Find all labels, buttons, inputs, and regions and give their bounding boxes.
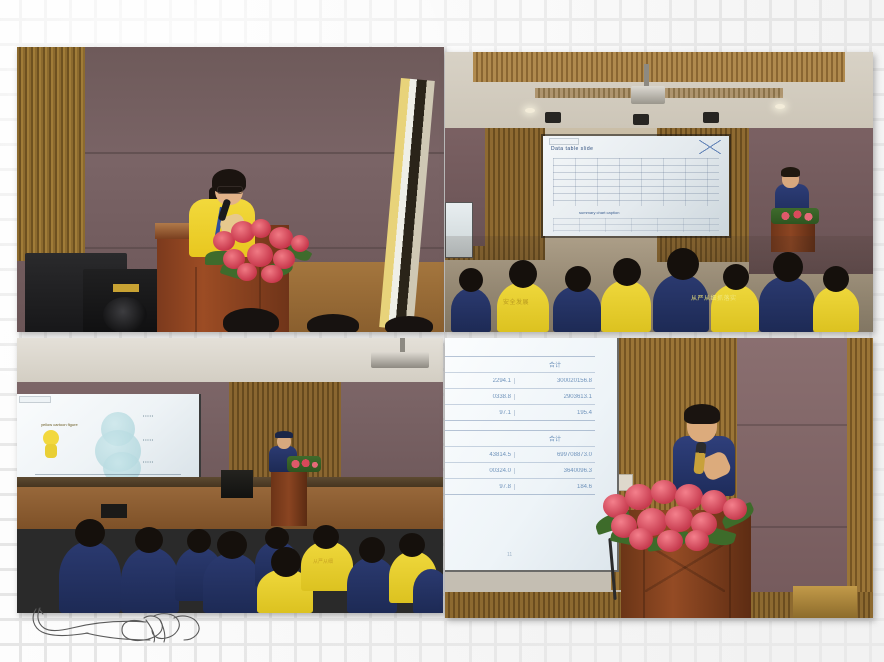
audience-member bbox=[813, 286, 859, 332]
flower-arrangement bbox=[595, 480, 755, 548]
audience-member bbox=[497, 282, 549, 332]
flower-arrangement bbox=[203, 217, 313, 287]
podium-flowers bbox=[287, 456, 321, 472]
company-logo-icon bbox=[699, 140, 721, 154]
ceiling-downlight bbox=[775, 104, 785, 109]
hall-speaker-hair bbox=[781, 167, 800, 177]
audience-head bbox=[271, 547, 301, 577]
table-row: 2294.1 300020156.8 bbox=[445, 373, 595, 389]
audience-member bbox=[759, 276, 815, 332]
audience-head bbox=[723, 264, 749, 290]
stone-seam bbox=[737, 424, 849, 426]
slide-data-table-secondary bbox=[553, 218, 719, 232]
table-cell: 合计 bbox=[515, 434, 595, 443]
audience-head bbox=[385, 316, 433, 332]
audience-head bbox=[613, 258, 641, 286]
projector bbox=[371, 352, 429, 368]
wall-seam bbox=[69, 152, 444, 154]
ceiling-speaker bbox=[633, 114, 649, 125]
audience-head bbox=[187, 529, 211, 553]
ceiling-downlight bbox=[525, 108, 535, 113]
table-cell: 97.1 bbox=[445, 410, 515, 416]
audience-head bbox=[773, 252, 803, 282]
audience-head bbox=[399, 533, 425, 557]
table-row: 97.8 184.6 bbox=[445, 479, 595, 494]
projector-mount bbox=[644, 64, 649, 88]
audience-head bbox=[217, 531, 247, 559]
table-cell: 3640096.3 bbox=[515, 468, 595, 474]
podium-panel-detail bbox=[645, 544, 725, 592]
projector bbox=[631, 86, 665, 104]
slide-table-upper: 合计 2294.1 300020156.8 0338.8 2903613.1 9… bbox=[445, 356, 595, 421]
photo-hall-projection[interactable]: Data table slide summary chart caption bbox=[445, 52, 873, 332]
ceiling-speaker bbox=[545, 112, 561, 123]
audience-shirt-text-secondary: 安全发展 bbox=[503, 297, 529, 306]
audience-head bbox=[135, 527, 163, 553]
table-cell: 699708873.0 bbox=[515, 452, 595, 458]
loudspeaker-cone bbox=[103, 297, 147, 332]
audience-member bbox=[451, 288, 491, 332]
loudspeaker-label bbox=[113, 284, 139, 292]
table-row: 97.1 195.4 bbox=[445, 405, 595, 420]
audience-head bbox=[667, 248, 699, 280]
projection-screen: Data table slide summary chart caption bbox=[543, 136, 729, 236]
audience-head bbox=[265, 527, 289, 549]
wood-block bbox=[793, 586, 857, 618]
audience-head bbox=[359, 537, 385, 563]
table-row: 00324.0 3640096.3 bbox=[445, 463, 595, 479]
audience-head bbox=[459, 268, 483, 292]
audience-head bbox=[823, 266, 849, 292]
audience-shirt-text: 从严从细 bbox=[313, 558, 333, 565]
audience-member bbox=[59, 541, 121, 613]
wood-wall-right bbox=[847, 338, 873, 618]
photo-hall-wide[interactable]: yellow cartoon figure • • • • • • • • • … bbox=[17, 338, 443, 613]
collage-canvas: Data table slide summary chart caption bbox=[0, 0, 884, 662]
projection-screen: 合计 2294.1 300020156.8 0338.8 2903613.1 9… bbox=[445, 338, 619, 572]
audience-area bbox=[17, 505, 443, 613]
audience-member bbox=[121, 547, 179, 613]
audience-member bbox=[711, 284, 759, 332]
slide-bullets: • • • • • bbox=[143, 460, 153, 465]
table-cell: 97.8 bbox=[445, 484, 515, 490]
audience-member bbox=[203, 553, 261, 613]
ceiling-speaker bbox=[703, 112, 719, 123]
table-cell: 2294.1 bbox=[445, 378, 515, 384]
table-cell: 300020156.8 bbox=[515, 378, 595, 384]
loudspeaker-stage bbox=[221, 470, 253, 498]
speaker-hair bbox=[684, 404, 720, 424]
slide-title: Data table slide bbox=[551, 146, 593, 152]
wood-slat-panel bbox=[17, 47, 85, 261]
slide-bullets: • • • • • bbox=[143, 438, 153, 443]
photo-speaker-female[interactable] bbox=[17, 47, 444, 332]
audience-head bbox=[223, 308, 279, 332]
slide-bullets: • • • • • bbox=[143, 414, 153, 419]
audience-member bbox=[553, 286, 601, 332]
audience-shirt-text: 从严从细抓落实 bbox=[691, 293, 737, 302]
audience-member bbox=[601, 280, 651, 332]
table-row: 合计 bbox=[445, 357, 595, 373]
table-cell: 43814.5 bbox=[445, 452, 515, 458]
slide-window-tab bbox=[19, 396, 51, 403]
slide-figure-label: yellow cartoon figure bbox=[41, 422, 78, 427]
table-cell: 合计 bbox=[515, 360, 595, 369]
slide-data-table bbox=[553, 158, 719, 206]
slide-window-tab bbox=[549, 138, 579, 145]
slide-page-number: 11 bbox=[507, 552, 512, 558]
audience-member bbox=[653, 274, 709, 332]
hand-drawn-scribble bbox=[26, 606, 226, 654]
photo-speaker-male[interactable]: 合计 2294.1 300020156.8 0338.8 2903613.1 9… bbox=[445, 338, 873, 618]
hall-podium-flowers bbox=[771, 208, 819, 224]
slide-table-lower: 合计 43814.5 699708873.0 00324.0 3640096.3… bbox=[445, 430, 595, 495]
audience-head bbox=[307, 314, 359, 332]
slide-caption: summary chart caption bbox=[579, 210, 619, 215]
table-row: 合计 bbox=[445, 431, 595, 447]
table-cell: 00324.0 bbox=[445, 468, 515, 474]
table-row: 0338.8 2903613.1 bbox=[445, 389, 595, 405]
slide-figure-body bbox=[45, 444, 57, 458]
audience-head bbox=[509, 260, 537, 288]
eyeglasses-icon bbox=[217, 186, 243, 194]
audience-head bbox=[75, 519, 105, 547]
table-cell: 0338.8 bbox=[445, 394, 515, 400]
ceiling-slats bbox=[473, 52, 845, 82]
audience-head bbox=[313, 525, 339, 549]
table-cell: 184.6 bbox=[515, 484, 595, 490]
table-row: 43814.5 699708873.0 bbox=[445, 447, 595, 463]
stone-column bbox=[737, 338, 849, 618]
audience-head bbox=[565, 266, 591, 292]
hall-speaker-cap bbox=[275, 431, 293, 438]
audience-member bbox=[413, 569, 443, 613]
table-cell: 195.4 bbox=[515, 410, 595, 416]
table-cell: 2903613.1 bbox=[515, 394, 595, 400]
